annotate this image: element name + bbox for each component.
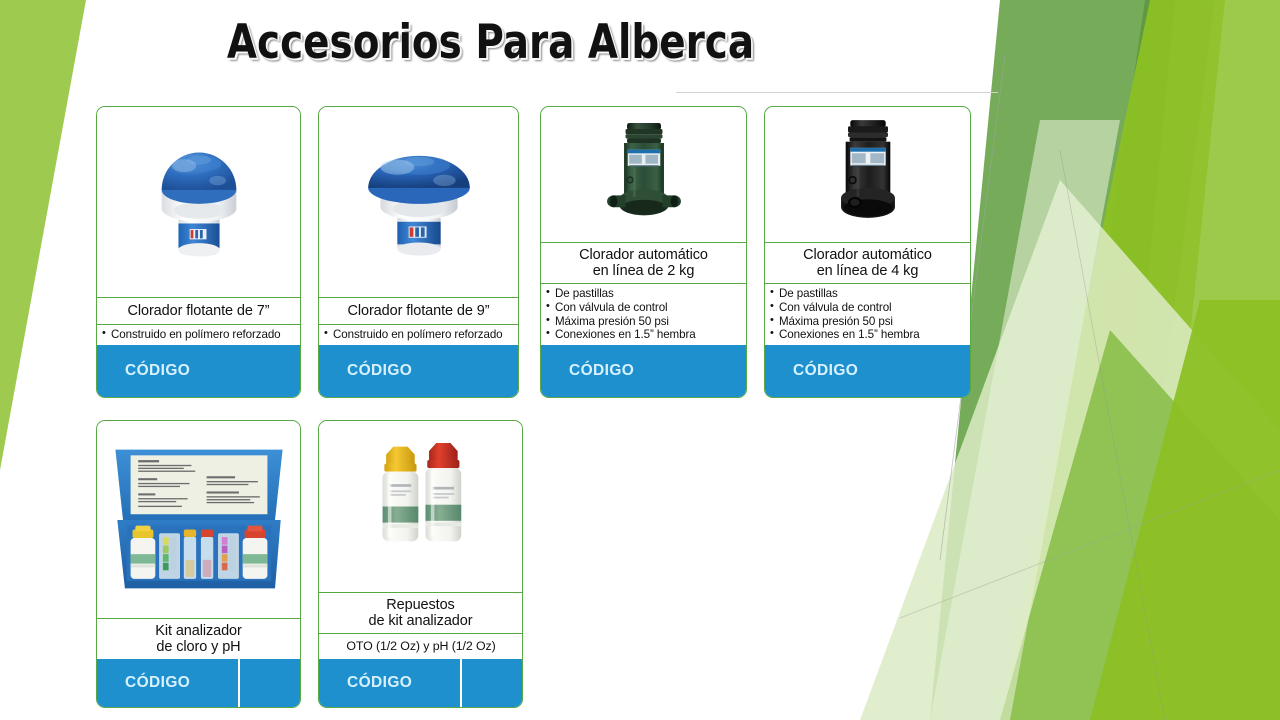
product-title: Clorador automático en línea de 4 kg: [765, 242, 970, 283]
product-title: Clorador flotante de 7”: [97, 297, 300, 324]
spec-item: Conexiones en 1.5” hembra: [546, 328, 742, 342]
spec-item: De pastillas: [546, 287, 742, 301]
spec-item: Con válvula de control: [770, 301, 966, 315]
product-title-line1: Repuestos: [321, 597, 520, 613]
code-bar[interactable]: CÓDIGO: [765, 345, 970, 397]
spec-item: Construido en polímero reforzado: [324, 328, 514, 342]
product-specs: OTO (1/2 Oz) y pH (1/2 Oz): [319, 633, 522, 659]
product-photo-test-kit-refill-bottles: [319, 421, 522, 592]
spec-item: Construido en polímero reforzado: [102, 328, 296, 342]
spec-item: De pastillas: [770, 287, 966, 301]
product-photo-inline-chlorinator-green: [541, 107, 746, 242]
bg-hairline-3: [1060, 150, 1165, 720]
product-title-line1: Clorador automático: [543, 247, 744, 263]
product-photo-floating-chlorinator-7in: [97, 107, 300, 297]
product-title-line2: de kit analizador: [321, 613, 520, 629]
product-specs: De pastillas Con válvula de control Máxi…: [765, 283, 970, 345]
code-bar[interactable]: CÓDIGO: [97, 659, 300, 707]
product-photo-chlorine-ph-test-kit: [97, 421, 300, 618]
code-bar[interactable]: CÓDIGO: [319, 345, 518, 397]
product-title: Clorador automático en línea de 2 kg: [541, 242, 746, 283]
spec-item: Conexiones en 1.5” hembra: [770, 328, 966, 342]
product-photo-floating-chlorinator-9in: [319, 107, 518, 297]
bg-shape-bright-lower: [1090, 300, 1280, 720]
spec-item: OTO (1/2 Oz) y pH (1/2 Oz): [346, 639, 495, 653]
product-card-clorador-flotante-9[interactable]: Clorador flotante de 9” Construido en po…: [318, 106, 519, 398]
product-title-line2: en línea de 4 kg: [767, 263, 968, 279]
bg-shape-mid-diagonal: [1000, 330, 1280, 720]
product-card-clorador-flotante-7[interactable]: Clorador flotante de 7” Construido en po…: [96, 106, 301, 398]
code-bar[interactable]: CÓDIGO: [319, 659, 522, 707]
bg-shape-left-wedge: [0, 0, 86, 470]
page-title-container: Accesorios Para Alberca: [0, 18, 980, 67]
product-card-clorador-automatico-2kg[interactable]: Clorador automático en línea de 2 kg De …: [540, 106, 747, 398]
code-bar[interactable]: CÓDIGO: [97, 345, 300, 397]
product-card-clorador-automatico-4kg[interactable]: Clorador automático en línea de 4 kg De …: [764, 106, 971, 398]
product-title-line2: de cloro y pH: [99, 639, 298, 655]
product-title: Repuestos de kit analizador: [319, 592, 522, 633]
product-card-repuestos-kit-analizador[interactable]: Repuestos de kit analizador OTO (1/2 Oz)…: [318, 420, 523, 708]
spec-item: Con válvula de control: [546, 301, 742, 315]
product-title-line1: Clorador automático: [767, 247, 968, 263]
title-underline-rule: [676, 92, 998, 93]
product-photo-inline-chlorinator-black: [765, 107, 970, 242]
code-bar[interactable]: CÓDIGO: [541, 345, 746, 397]
product-card-kit-analizador[interactable]: Kit analizador de cloro y pH CÓDIGO: [96, 420, 301, 708]
bg-shape-right-bright: [1000, 0, 1280, 720]
bg-hairline-2: [900, 470, 1280, 618]
spec-item: Máxima presión 50 psi: [770, 315, 966, 329]
product-title-line2: en línea de 2 kg: [543, 263, 744, 279]
product-title-line1: Kit analizador: [99, 623, 298, 639]
bg-shape-right-light: [1150, 0, 1280, 720]
product-title: Clorador flotante de 9”: [319, 297, 518, 324]
product-specs: Construido en polímero reforzado: [97, 324, 300, 345]
product-specs: De pastillas Con válvula de control Máxi…: [541, 283, 746, 345]
spec-item: Máxima presión 50 psi: [546, 315, 742, 329]
bg-shape-right-dark: [1040, 0, 1215, 720]
slide-canvas: Accesorios Para Alberca: [0, 0, 1280, 720]
page-title: Accesorios Para Alberca: [226, 18, 753, 67]
product-title: Kit analizador de cloro y pH: [97, 618, 300, 659]
product-specs: Construido en polímero reforzado: [319, 324, 518, 345]
